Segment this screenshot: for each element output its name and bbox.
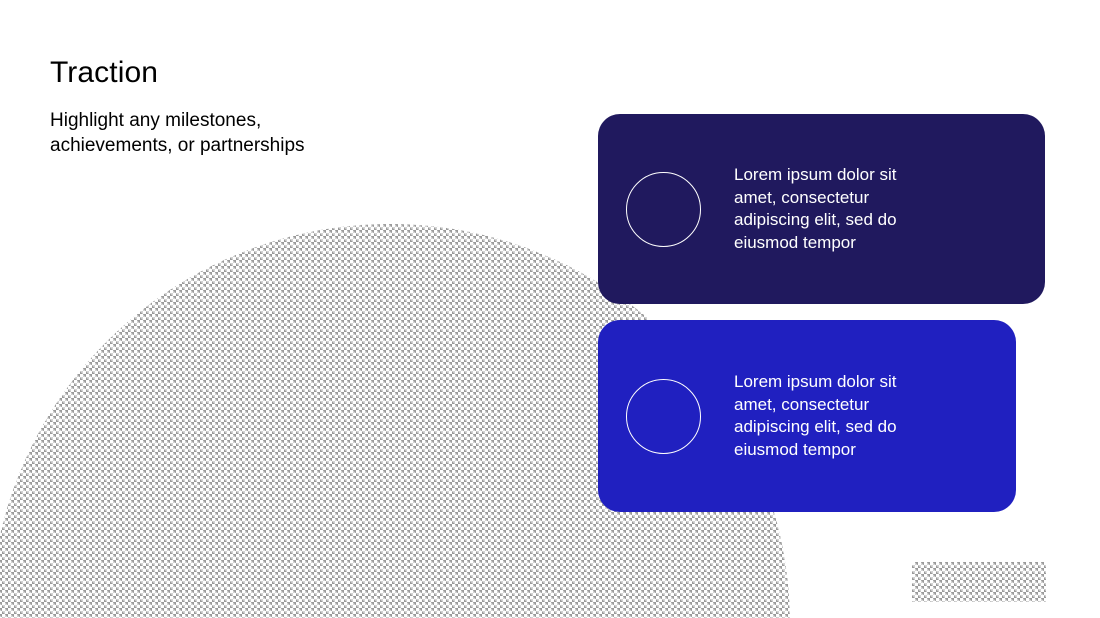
page-subtitle: Highlight any milestones, achievements, … — [50, 108, 305, 158]
traction-card-1[interactable]: Lorem ipsum dolor sit amet, consectetur … — [598, 114, 1045, 304]
circle-outline-icon — [626, 172, 701, 247]
page-title: Traction — [50, 56, 305, 90]
traction-card-2[interactable]: Lorem ipsum dolor sit amet, consectetur … — [598, 320, 1016, 512]
halftone-rectangle-patch-decoration — [912, 562, 1046, 602]
circle-outline-icon — [626, 379, 701, 454]
traction-card-1-body: Lorem ipsum dolor sit amet, consectetur … — [734, 164, 939, 254]
slide-heading-group: Traction Highlight any milestones, achie… — [50, 56, 305, 158]
traction-card-2-body: Lorem ipsum dolor sit amet, consectetur … — [734, 371, 939, 461]
slide-canvas: Traction Highlight any milestones, achie… — [0, 0, 1100, 618]
